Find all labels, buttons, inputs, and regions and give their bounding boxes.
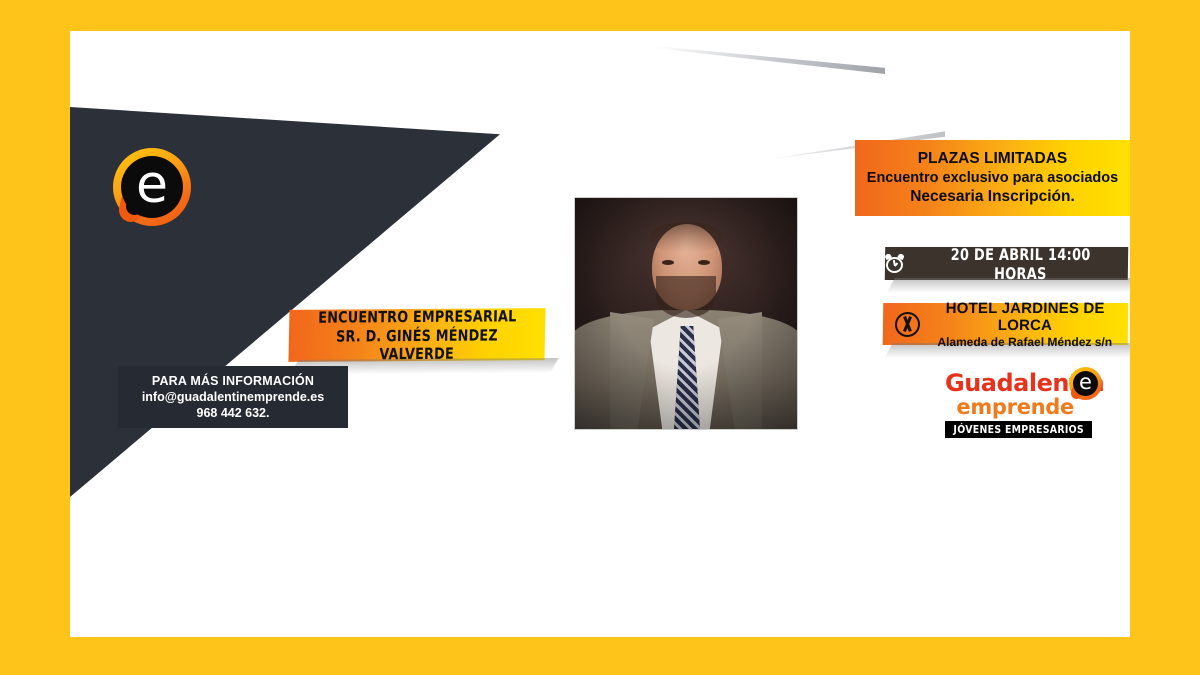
speaker-portrait-photo [574, 197, 798, 430]
event-title-line1: ENCUENTRO EMPRESARIAL [299, 307, 535, 327]
event-speaker-name: SR. D. GINÉS MÉNDEZ VALVERDE [299, 326, 535, 364]
brand-tagline: JÓVENES EMPRESARIOS [953, 423, 1084, 436]
venue-address: Alameda de Rafael Méndez s/n [926, 335, 1124, 349]
venue-name: HOTEL JARDINES DE LORCA [926, 300, 1124, 334]
venue-text-block: HOTEL JARDINES DE LORCA Alameda de Rafae… [926, 300, 1129, 349]
pointer-line-decoration [655, 46, 885, 74]
poster-canvas: e ENCUENTRO EMPRESARIAL SR. D. GINÉS MÉN… [70, 31, 1130, 637]
contact-email[interactable]: info@guadalentinemprende.es [142, 390, 324, 404]
event-date-text: 20 DE ABRIL 14:00 HORAS [923, 245, 1117, 283]
brand-name-secondary: emprende [945, 397, 1100, 418]
contact-heading: PARA MÁS INFORMACIÓN [152, 374, 314, 388]
event-title-ribbon: ENCUENTRO EMPRESARIAL SR. D. GINÉS MÉNDE… [288, 308, 545, 362]
contact-info-box: PARA MÁS INFORMACIÓN info@guadalentinemp… [118, 366, 348, 428]
brand-e-icon: e [1069, 367, 1102, 400]
cutlery-icon [895, 312, 920, 337]
brand-tagline-bar: JÓVENES EMPRESARIOS [945, 421, 1092, 438]
e-speech-bubble-logo-icon: e [113, 148, 191, 226]
ribbon-shadow [857, 214, 1130, 229]
guadalentin-emprende-logo: Guadalentín emprende JÓVENES EMPRESARIOS… [945, 371, 1100, 443]
event-date-ribbon: 20 DE ABRIL 14:00 HORAS [885, 247, 1128, 280]
alarm-clock-icon [885, 254, 904, 273]
venue-ribbon: HOTEL JARDINES DE LORCA Alameda de Rafae… [883, 303, 1129, 345]
logo-letter: e [113, 148, 191, 226]
limited-seats-detail: Encuentro exclusivo para asociados [861, 170, 1124, 186]
limited-seats-headline: PLAZAS LIMITADAS [861, 150, 1124, 168]
portrait-vignette [575, 198, 797, 429]
brand-logo-letter: e [1069, 367, 1102, 400]
registration-required-note: Necesaria Inscripción. [861, 188, 1124, 206]
contact-phone[interactable]: 968 442 632. [197, 406, 270, 420]
limited-seats-ribbon: PLAZAS LIMITADAS Encuentro exclusivo par… [855, 140, 1130, 216]
